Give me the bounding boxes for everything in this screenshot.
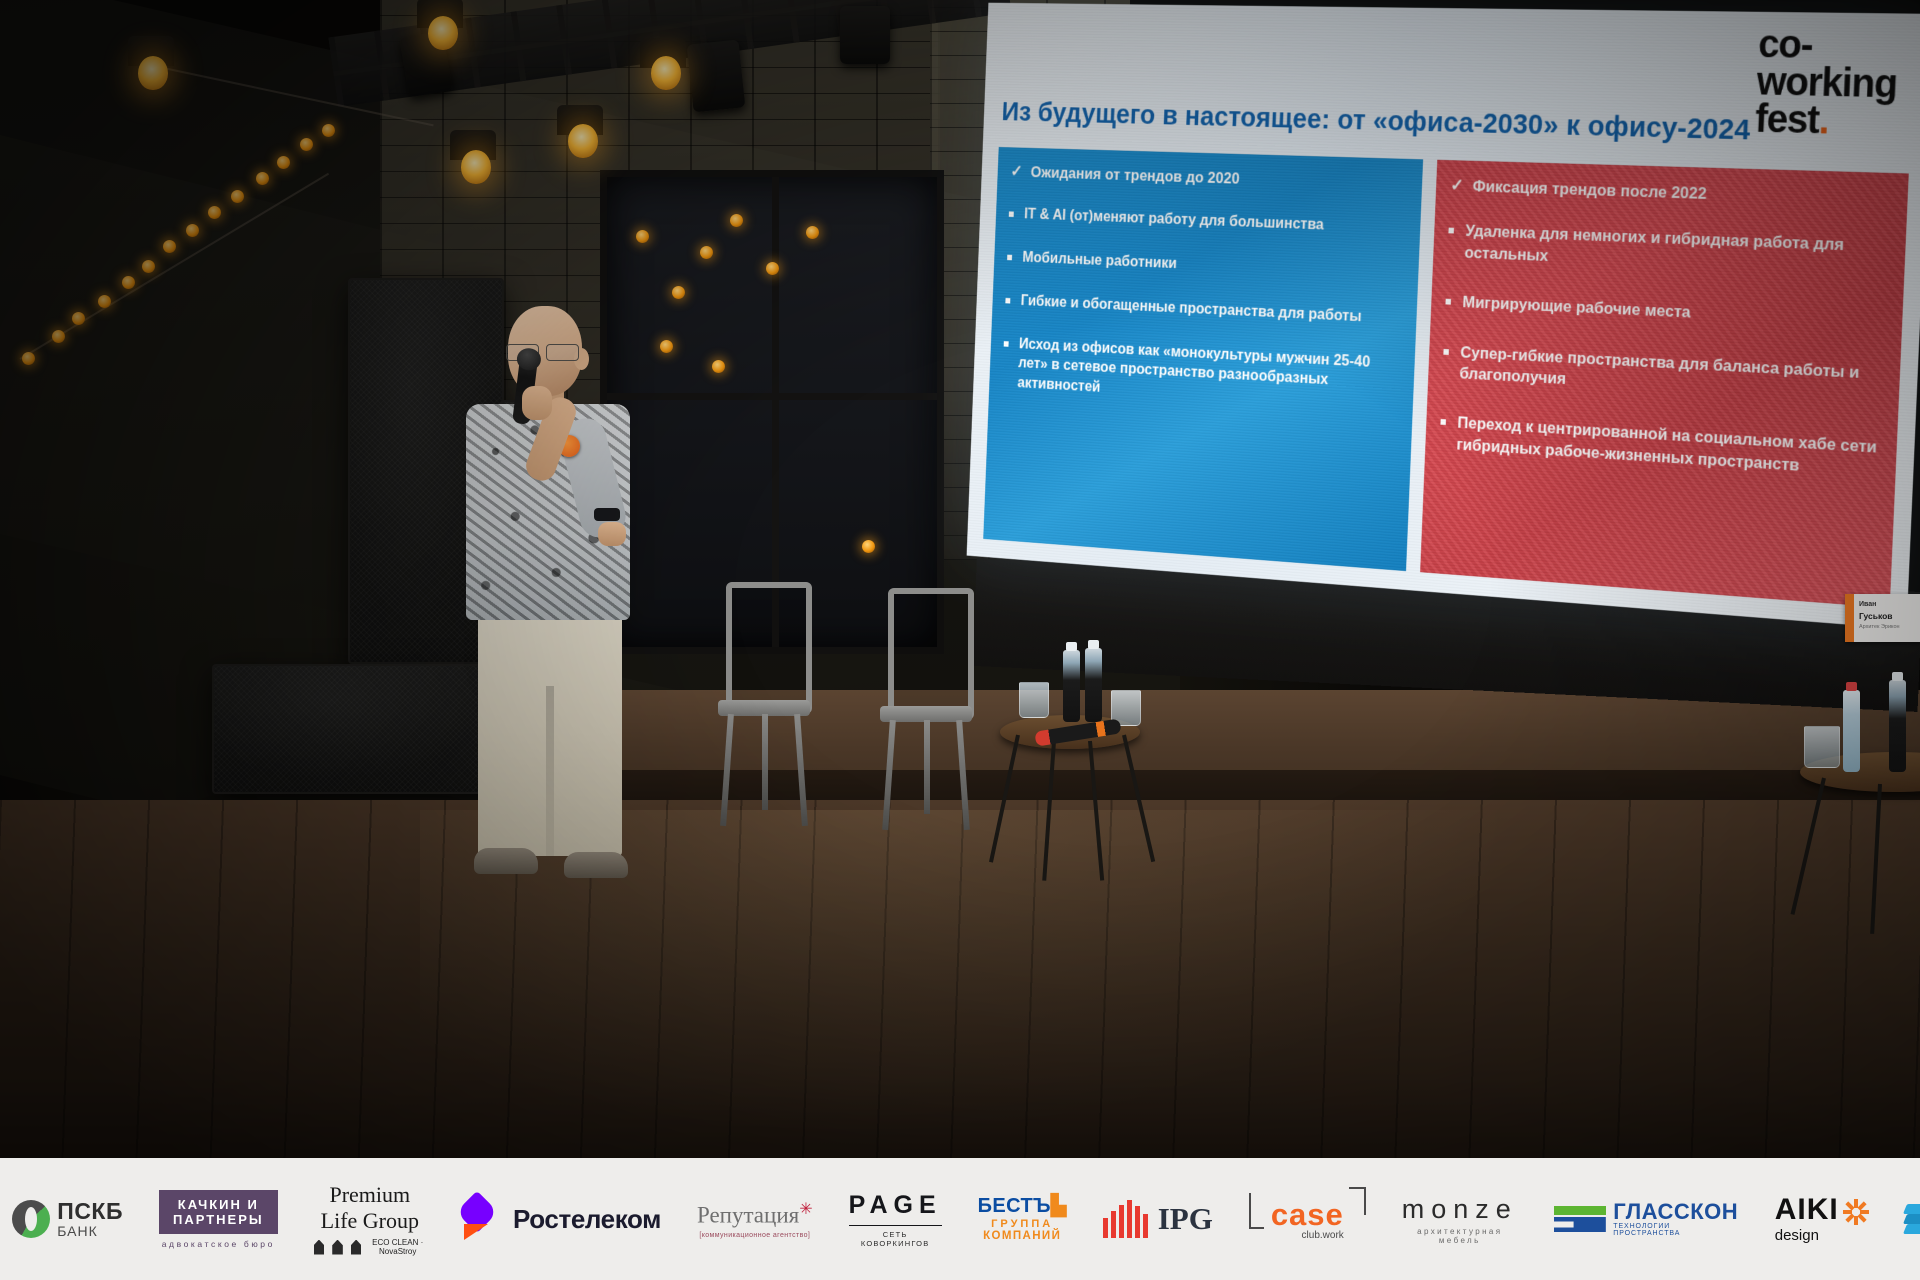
festoon-bulb-14	[322, 124, 335, 137]
chair-leg	[924, 720, 930, 814]
festoon-bulb-04	[98, 295, 111, 308]
ipg-logo: IPG	[1103, 1200, 1213, 1238]
page-name: PAGE	[849, 1191, 942, 1220]
pskb-name: ПСКБ	[57, 1200, 123, 1223]
water-bottle-3	[1843, 690, 1860, 772]
sponsor-best: БЕСТЪ▙ ГРУППА КОМПАНИЙ	[960, 1184, 1085, 1254]
case-clubwork-logo: case club.work	[1249, 1191, 1366, 1247]
pskb-mark-icon	[12, 1200, 50, 1238]
best-group-logo: БЕСТЪ▙ ГРУППА КОМПАНИЙ	[978, 1195, 1067, 1243]
sponsor-rostelecom: Ростелеком	[444, 1184, 679, 1254]
reputacia-sub: [коммуникационное агентство]	[697, 1232, 813, 1239]
list-item: Мигрирующие рабочие места	[1445, 291, 1883, 333]
hanging-bulb-3	[461, 150, 491, 184]
bullet-text: Исход из офисов как «монокультуры мужчин…	[1017, 334, 1397, 415]
glasscon-mark-icon	[1554, 1206, 1605, 1232]
bullet-square-icon	[1445, 299, 1451, 305]
sponsor-reputacia: Репутация✳ [коммуникационное агентство]	[679, 1184, 831, 1254]
festoon-bulb-11	[256, 172, 269, 185]
glasscon-sub: ТЕХНОЛОГИИ ПРОСТРАНСТВА	[1613, 1223, 1738, 1237]
best-sub2: КОМПАНИЙ	[978, 1230, 1067, 1243]
aiki-text: AIKI design	[1775, 1195, 1839, 1244]
hanging-bulb-4	[568, 124, 598, 158]
best-name-text: БЕСТЪ	[978, 1195, 1051, 1217]
premium-life-group-logo: Premium Life Group ECO CLEAN · NovaStroy	[314, 1182, 426, 1256]
plg-name: Premium Life Group	[314, 1182, 426, 1234]
stage-light-2	[687, 39, 746, 112]
ipg-name: IPG	[1158, 1201, 1213, 1237]
presenter-hand-right	[522, 386, 552, 420]
sunburst-icon	[1843, 1199, 1869, 1225]
glasscon-name: ГЛАССКОН	[1613, 1201, 1738, 1223]
slide-surface: Из будущего в настоящее: от «офиса-2030»…	[967, 3, 1920, 630]
presenter-hand-left	[598, 522, 626, 546]
bullet-text: IT & AI (от)меняют работу для большинств…	[1024, 205, 1324, 236]
panel-left-heading: Ожидания от трендов до 2020	[1030, 162, 1240, 188]
sponsor-case: case club.work	[1231, 1184, 1384, 1254]
window-bulb-5	[766, 262, 779, 275]
bottle-cap	[1846, 682, 1857, 691]
festoon-bulb-06	[142, 260, 155, 273]
panel-trends-after-2022: ✓ Фиксация трендов после 2022 Удаленка д…	[1420, 160, 1909, 608]
page-sub: СЕТЬ КОВОРКИНГОВ	[849, 1225, 942, 1248]
best-sub: ГРУППА	[978, 1218, 1067, 1230]
festoon-bulb-13	[300, 138, 313, 151]
kachkin-sub: адвокатское бюро	[159, 1239, 278, 1249]
case-name: case	[1271, 1197, 1344, 1233]
logo-line-3: fest.	[1754, 100, 1896, 141]
festoon-bulb-08	[186, 224, 199, 237]
chair-leg	[762, 714, 768, 810]
eyeglass-lens-right	[546, 344, 579, 361]
kachkin-partners-logo: КАЧКИН И ПАРТНЕРЫ адвокатское бюро	[159, 1190, 278, 1249]
drinking-glass-1	[1019, 682, 1049, 718]
sponsor-logo-bar: AM·PM ПСКБ БАНК КАЧКИН И ПАРТНЕРЫ адвока…	[0, 1158, 1920, 1280]
list-item: Исход из офисов как «монокультуры мужчин…	[1002, 333, 1398, 415]
placard-accent-bar	[1845, 594, 1854, 642]
check-icon: ✓	[1010, 163, 1023, 180]
aiki-name: AIKI	[1775, 1195, 1839, 1225]
sponsor-kachkin: КАЧКИН И ПАРТНЕРЫ адвокатское бюро	[141, 1184, 296, 1254]
panel-right-heading: Фиксация трендов после 2022	[1472, 176, 1707, 204]
window-bulb-4	[730, 214, 743, 227]
placard-first-name: Иван	[1859, 601, 1876, 608]
presenter-shoe-right	[564, 852, 628, 878]
coworking-fest-logo: co- working fest.	[1754, 26, 1899, 142]
pskb-text: ПСКБ БАНК	[57, 1200, 123, 1239]
water-bottle-2	[1085, 648, 1102, 722]
window-bulb-8	[712, 360, 725, 373]
bullet-text: Переход к центрированной на социальном х…	[1456, 413, 1877, 482]
festoon-bulb-02	[52, 330, 65, 343]
placard-last-name: Гуськов	[1859, 611, 1893, 621]
monze-logo: monze архитектурная мебель	[1402, 1194, 1518, 1245]
bottle-cap	[1066, 642, 1077, 651]
case-bracket-left-icon	[1249, 1193, 1264, 1229]
monze-name: monze	[1402, 1194, 1518, 1225]
best-name: БЕСТЪ▙	[978, 1195, 1067, 1217]
check-icon: ✓	[1450, 176, 1464, 194]
best-mark-icon: ▙	[1051, 1195, 1067, 1217]
sponsor-aiki: AIKI design	[1757, 1184, 1887, 1254]
festoon-bulb-09	[208, 206, 221, 219]
plg-sub-row: ECO CLEAN · NovaStroy	[314, 1238, 426, 1256]
pskb-sub: БАНК	[57, 1223, 123, 1239]
festoon-bulb-03	[72, 312, 85, 325]
drinking-glass-3	[1804, 726, 1840, 768]
pskb-bank-logo: ПСКБ БАНК	[12, 1200, 123, 1239]
house-icon	[332, 1240, 343, 1255]
presenter-shoe-left	[474, 848, 538, 874]
rostelecom-logo: Ростелеком	[462, 1197, 661, 1241]
chair-back	[888, 588, 974, 720]
list-item: Мобильные работники	[1007, 247, 1401, 284]
wristwatch	[594, 508, 620, 521]
list-item: Супер-гибкие пространства для баланса ра…	[1442, 341, 1881, 407]
presenter	[448, 300, 678, 900]
bullet-square-icon	[1005, 298, 1010, 304]
bullet-square-icon	[1440, 419, 1446, 425]
bullet-text: Удаленка для немногих и гибридная работа…	[1464, 221, 1886, 281]
window-bulb-2	[672, 286, 685, 299]
bullet-text: Мигрирующие рабочие места	[1462, 292, 1691, 324]
space-logo: SPACE	[1905, 1204, 1920, 1235]
bullet-square-icon	[1009, 212, 1014, 218]
list-item: Гибкие и обогащенные пространства для ра…	[1005, 290, 1399, 329]
presenter-trousers	[478, 606, 622, 856]
building-icon	[314, 1240, 325, 1255]
estate-icon	[351, 1240, 362, 1255]
list-item: Удаленка для немногих и гибридная работа…	[1447, 220, 1886, 280]
window-bulb-3	[700, 246, 713, 259]
rostelecom-name: Ростелеком	[513, 1204, 661, 1235]
reputacia-name-text: Репутация	[697, 1203, 799, 1228]
monze-sub: архитектурная мебель	[1402, 1227, 1518, 1245]
bullet-square-icon	[1004, 341, 1009, 347]
placard-affiliation: Архитек Эрикон	[1859, 624, 1900, 630]
logo-line-3-text: fest	[1754, 97, 1819, 142]
hanging-bulb-2	[428, 16, 458, 50]
hanging-bulb-5	[651, 56, 681, 90]
sponsor-premium-life: Premium Life Group ECO CLEAN · NovaStroy	[296, 1184, 444, 1254]
photo-scene: Из будущего в настоящее: от «офиса-2030»…	[0, 0, 1920, 1280]
festoon-bulb-05	[122, 276, 135, 289]
bottle-cap	[1088, 640, 1099, 649]
star-icon: ✳	[799, 1201, 812, 1218]
panel-expectations-before-2020: ✓ Ожидания от трендов до 2020 IT & AI (о…	[983, 147, 1423, 571]
aiki-sub: design	[1775, 1227, 1839, 1244]
logo-dot: .	[1818, 99, 1829, 143]
water-bottle-1	[1063, 650, 1080, 722]
window-bulb-6	[806, 226, 819, 239]
page-coworking-logo: PAGE СЕТЬ КОВОРКИНГОВ	[849, 1191, 942, 1248]
bullet-text: Гибкие и обогащенные пространства для ра…	[1020, 291, 1362, 327]
sponsor-page: PAGE СЕТЬ КОВОРКИНГОВ	[831, 1184, 960, 1254]
bottle-cap	[1892, 672, 1903, 681]
list-item: IT & AI (от)меняют работу для большинств…	[1008, 204, 1403, 239]
space-mark-icon	[1905, 1204, 1920, 1234]
slide-panels: ✓ Ожидания от трендов до 2020 IT & AI (о…	[983, 147, 1909, 608]
panel-left-bullet-list: IT & AI (от)меняют работу для большинств…	[1002, 204, 1403, 415]
bullet-text: Мобильные работники	[1022, 248, 1177, 274]
bullet-square-icon	[1448, 228, 1454, 234]
rostelecom-mark-icon	[462, 1197, 502, 1241]
festoon-bulb-07	[163, 240, 176, 253]
panel-right-bullet-list: Удаленка для немногих и гибридная работа…	[1439, 220, 1886, 481]
bullet-text: Супер-гибкие пространства для баланса ра…	[1459, 342, 1881, 408]
name-placard: Иван Гуськов Архитек Эрикон	[1845, 594, 1920, 642]
panel-left-heading-row: ✓ Ожидания от трендов до 2020	[1010, 162, 1405, 194]
reputacia-name: Репутация✳	[697, 1199, 813, 1229]
sponsor-space: SPACE	[1887, 1184, 1920, 1254]
panel-right-heading-row: ✓ Фиксация трендов после 2022	[1450, 175, 1888, 210]
festoon-bulb-12	[277, 156, 290, 169]
festoon-bulb-10	[231, 190, 244, 203]
sponsor-pskb: ПСКБ БАНК	[0, 1184, 141, 1254]
sponsor-ipg: IPG	[1085, 1184, 1231, 1254]
sponsor-glasscon: ГЛАССКОН ТЕХНОЛОГИИ ПРОСТРАНСТВА	[1536, 1184, 1757, 1254]
case-bracket-right-icon	[1349, 1187, 1366, 1215]
sponsor-monze: monze архитектурная мебель	[1384, 1184, 1536, 1254]
kachkin-name: КАЧКИН И ПАРТНЕРЫ	[159, 1190, 278, 1234]
list-item: Переход к центрированной на социальном х…	[1439, 412, 1877, 482]
glasscon-text: ГЛАССКОН ТЕХНОЛОГИИ ПРОСТРАНСТВА	[1613, 1201, 1738, 1237]
ipg-bars-icon	[1103, 1200, 1148, 1238]
bullet-square-icon	[1007, 255, 1012, 261]
festoon-bulb-01	[22, 352, 35, 365]
water-bottle-4	[1889, 680, 1906, 772]
reputacia-logo: Репутация✳ [коммуникационное агентство]	[697, 1199, 813, 1239]
aiki-design-logo: AIKI design	[1775, 1195, 1869, 1244]
hanging-bulb-1	[138, 56, 168, 90]
projection-screen: Из будущего в настоящее: от «офиса-2030»…	[856, 14, 1920, 630]
bullet-square-icon	[1443, 349, 1449, 355]
plg-sub: ECO CLEAN · NovaStroy	[369, 1238, 426, 1256]
glasscon-logo: ГЛАССКОН ТЕХНОЛОГИИ ПРОСТРАНСТВА	[1554, 1201, 1739, 1237]
chair-back	[726, 582, 812, 714]
window-bulb-1	[636, 230, 649, 243]
